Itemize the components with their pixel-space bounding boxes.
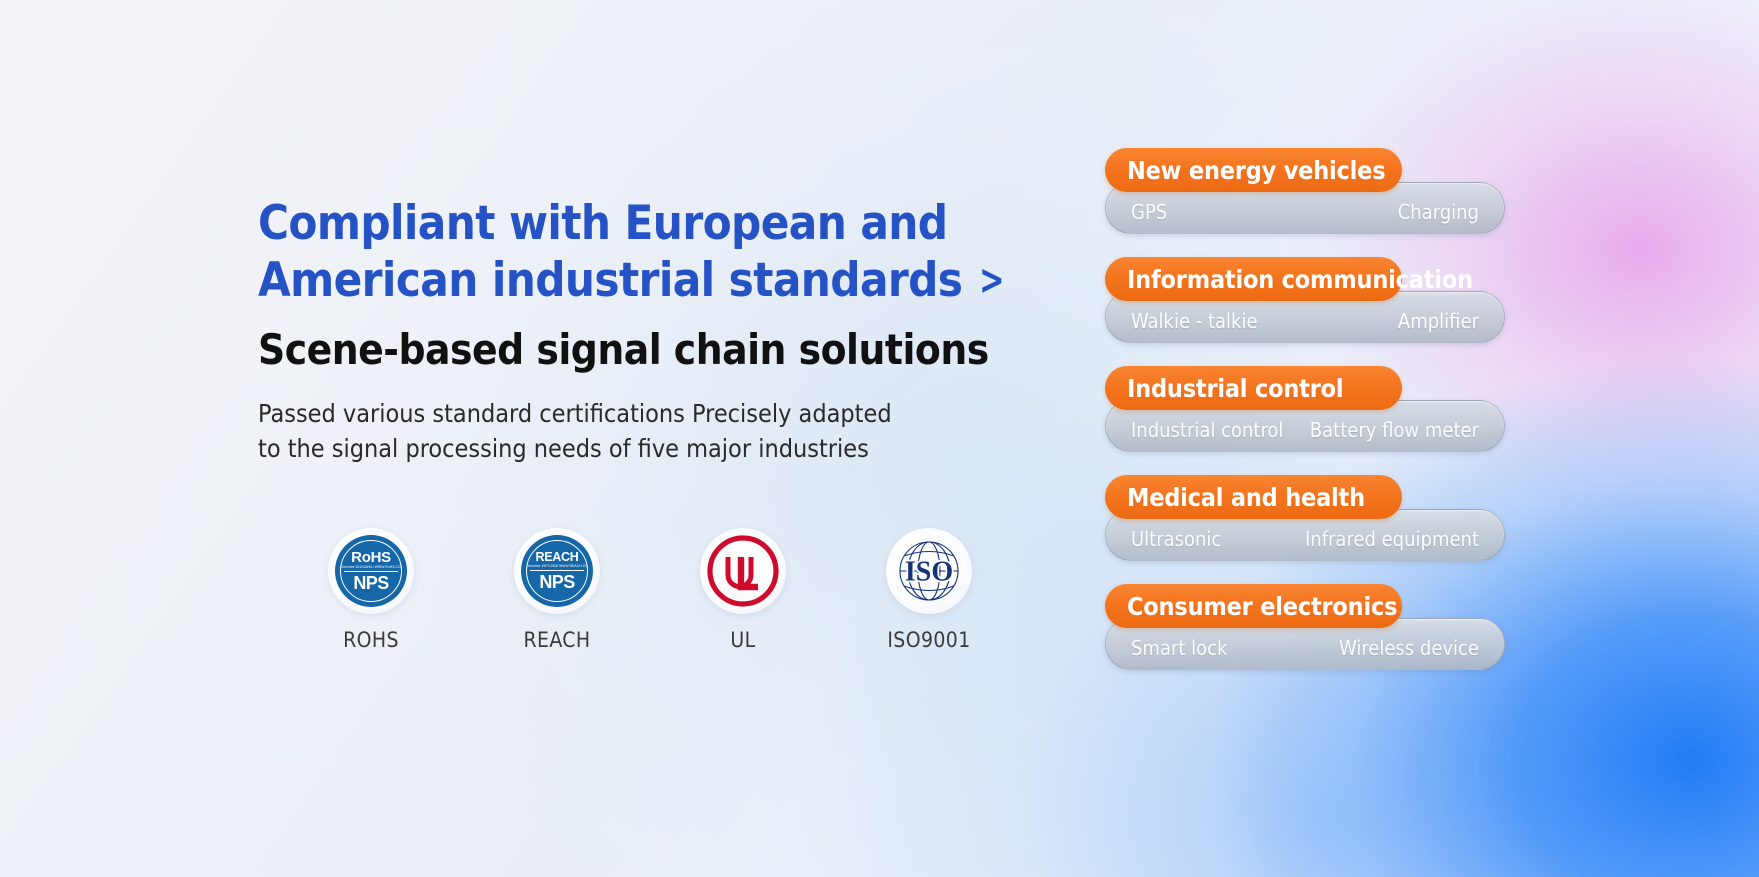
rohs-seal-micro-text: Directive 2011/65/EU WWW.RoHS.CO (341, 566, 401, 569)
industry-group-information-communication: Information communication Walkie - talki… (1105, 257, 1505, 343)
iso-globe-svg: ISO (891, 533, 967, 609)
certification-badge-iso[interactable]: ISO ISO9001 (836, 528, 1022, 652)
headline-line-2-wrap: American industrial standards> (258, 252, 1078, 309)
certification-badge-rohs[interactable]: RoHS Directive 2011/65/EU WWW.RoHS.CO NP… (278, 528, 464, 652)
ul-mark-icon (700, 528, 786, 614)
industry-title-label: New energy vehicles (1127, 156, 1385, 185)
reach-seal-top-text: REACH (536, 551, 579, 564)
certification-label-rohs: ROHS (343, 628, 399, 652)
divider (530, 570, 584, 571)
industry-group-industrial-control: Industrial control Industrial control Ba… (1105, 366, 1505, 452)
headline-line-2: American industrial standards (258, 253, 962, 308)
industry-tag-left[interactable]: Ultrasonic (1131, 527, 1221, 551)
industry-tag-right[interactable]: Battery flow meter (1310, 418, 1479, 442)
certification-label-iso: ISO9001 (887, 628, 970, 652)
industry-tag-right[interactable]: Charging (1398, 200, 1479, 224)
rohs-seal-top-text: RoHS (351, 550, 391, 565)
industry-pill-panel: New energy vehicles GPS Charging Informa… (1105, 148, 1505, 670)
industry-tag-right[interactable]: Amplifier (1398, 309, 1479, 333)
industry-title-label: Information communication (1127, 265, 1473, 294)
certification-badge-reach[interactable]: REACH Directive 1907/2006 WWW.REACH.CO N… (464, 528, 650, 652)
industry-title-pill[interactable]: Information communication (1105, 257, 1402, 301)
rohs-seal-icon: RoHS Directive 2011/65/EU WWW.RoHS.CO NP… (328, 528, 414, 614)
industry-title-pill[interactable]: New energy vehicles (1105, 148, 1402, 192)
iso-globe-icon: ISO (886, 528, 972, 614)
industry-group-medical-and-health: Medical and health Ultrasonic Infrared e… (1105, 475, 1505, 561)
industry-tag-right[interactable]: Wireless device (1339, 636, 1479, 660)
industry-group-new-energy-vehicles: New energy vehicles GPS Charging (1105, 148, 1505, 234)
industry-tag-left[interactable]: Industrial control (1131, 418, 1283, 442)
industry-title-pill[interactable]: Consumer electronics (1105, 584, 1402, 628)
industry-title-pill[interactable]: Industrial control (1105, 366, 1402, 410)
reach-seal-circle: REACH Directive 1907/2006 WWW.REACH.CO N… (521, 535, 593, 607)
certification-badge-list: RoHS Directive 2011/65/EU WWW.RoHS.CO NP… (278, 528, 1022, 652)
reach-seal-brand-text: NPS (539, 573, 574, 591)
page-subtitle: Scene-based signal chain solutions (258, 325, 1078, 374)
industry-tag-left[interactable]: GPS (1131, 200, 1167, 224)
iso-globe-text: ISO (905, 557, 953, 588)
industry-title-label: Industrial control (1127, 374, 1343, 403)
reach-seal-icon: REACH Directive 1907/2006 WWW.REACH.CO N… (514, 528, 600, 614)
rohs-seal-circle: RoHS Directive 2011/65/EU WWW.RoHS.CO NP… (335, 535, 407, 607)
industry-title-label: Medical and health (1127, 483, 1365, 512)
rohs-seal-brand-text: NPS (353, 574, 388, 592)
chevron-right-icon[interactable]: > (979, 254, 1004, 305)
hero-banner: Compliant with European and American ind… (0, 0, 1759, 877)
hero-text-column: Compliant with European and American ind… (258, 195, 1078, 467)
industry-tag-left[interactable]: Smart lock (1131, 636, 1227, 660)
divider (344, 571, 398, 572)
industry-group-consumer-electronics: Consumer electronics Smart lock Wireless… (1105, 584, 1505, 670)
description-line-2: to the signal processing needs of five m… (258, 431, 1078, 467)
industry-tag-right[interactable]: Infrared equipment (1305, 527, 1479, 551)
industry-title-label: Consumer electronics (1127, 592, 1397, 621)
industry-title-pill[interactable]: Medical and health (1105, 475, 1402, 519)
certification-label-reach: REACH (523, 628, 590, 652)
reach-seal-micro-text: Directive 1907/2006 WWW.REACH.CO (526, 565, 587, 568)
page-title: Compliant with European and American ind… (258, 195, 1078, 310)
description-line-1: Passed various standard certifications P… (258, 396, 1078, 432)
ul-mark-svg (706, 534, 780, 608)
page-description: Passed various standard certifications P… (258, 396, 1078, 467)
certification-label-ul: UL (730, 628, 755, 652)
headline-line-1: Compliant with European and (258, 195, 1078, 252)
industry-tag-left[interactable]: Walkie - talkie (1131, 309, 1258, 333)
certification-badge-ul[interactable]: UL (650, 528, 836, 652)
